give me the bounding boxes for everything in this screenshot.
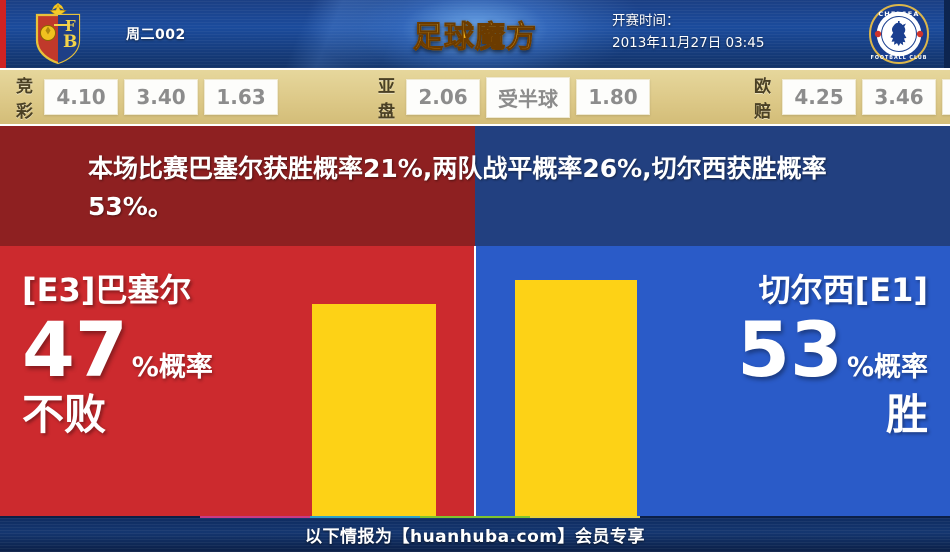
- footer-notice: 以下情报为【huanhuba.com】会员专享: [305, 522, 645, 547]
- odds-group-yapan: 亚盘 2.06 受半球 1.80: [378, 72, 650, 122]
- home-probability-bar: [312, 304, 436, 516]
- svg-text:FOOTBALL CLUB: FOOTBALL CLUB: [871, 55, 928, 61]
- home-percent-row: 47 %概率: [22, 312, 292, 388]
- home-percent-suffix: %概率: [132, 345, 213, 384]
- odds-bar: 竞彩 4.10 3.40 1.63 亚盘 2.06 受半球 1.80 欧赔 4.…: [0, 68, 950, 126]
- odds-cell-yapan-1[interactable]: 2.06: [406, 79, 480, 115]
- odds-cell-oupei-1[interactable]: 4.25: [782, 79, 856, 115]
- away-team-name: 切尔西[E1]: [658, 274, 928, 308]
- svg-text:B: B: [63, 32, 77, 52]
- chelsea-crest-icon: CHELSEA FOOTBALL CLUB: [868, 3, 930, 65]
- odds-label-oupei: 欧赔: [754, 72, 772, 122]
- home-team-info: [E3]巴塞尔 47 %概率 不败: [22, 274, 292, 436]
- away-outcome-label: 胜: [658, 394, 928, 436]
- away-percent-suffix: %概率: [847, 345, 928, 384]
- svg-text:CHELSEA: CHELSEA: [878, 10, 919, 18]
- odds-cell-yapan-2[interactable]: 1.80: [576, 79, 650, 115]
- probability-banner: 本场比赛巴塞尔获胜概率21%,两队战平概率26%,切尔西获胜概率53%。: [0, 126, 950, 246]
- header-right-edge: [944, 0, 950, 68]
- kickoff-label: 开赛时间：: [612, 10, 842, 32]
- odds-cell-jingcai-1[interactable]: 4.10: [44, 79, 118, 115]
- away-percent-value: 53: [737, 312, 843, 388]
- kickoff-info: 开赛时间： 2013年11月27日 03:45: [612, 10, 842, 55]
- match-prediction-page: F B 周二002 足球魔方 开赛时间： 2013年11月27日 03:45 C…: [0, 0, 950, 552]
- odds-group-jingcai: 竞彩 4.10 3.40 1.63: [16, 72, 278, 122]
- page-header: F B 周二002 足球魔方 开赛时间： 2013年11月27日 03:45 C…: [0, 0, 950, 68]
- probability-summary-text: 本场比赛巴塞尔获胜概率21%,两队战平概率26%,切尔西获胜概率53%。: [88, 150, 888, 225]
- odds-cell-oupei-2[interactable]: 3.46: [862, 79, 936, 115]
- page-footer: 以下情报为【huanhuba.com】会员专享: [0, 516, 950, 552]
- odds-cell-jingcai-2[interactable]: 3.40: [124, 79, 198, 115]
- odds-cell-oupei-3[interactable]: 1.84: [942, 79, 950, 115]
- match-number: 周二002: [126, 0, 186, 68]
- away-percent-row: 53 %概率: [658, 312, 928, 388]
- home-team-name: [E3]巴塞尔: [22, 274, 292, 308]
- odds-cell-jingcai-3[interactable]: 1.63: [204, 79, 278, 115]
- odds-label-jingcai: 竞彩: [16, 72, 34, 122]
- home-percent-value: 47: [22, 312, 128, 388]
- basel-crest-icon: F B: [24, 3, 92, 65]
- odds-group-oupei: 欧赔 4.25 3.46 1.84: [754, 72, 950, 122]
- away-team-panel: 切尔西[E1] 53 %概率 胜: [475, 246, 950, 516]
- header-left-edge: [0, 0, 6, 68]
- odds-cell-yapan-handicap[interactable]: 受半球: [486, 77, 570, 118]
- odds-label-yapan: 亚盘: [378, 72, 396, 122]
- away-probability-bar: [515, 280, 637, 516]
- away-team-info: 切尔西[E1] 53 %概率 胜: [658, 274, 928, 436]
- kickoff-time: 2013年11月27日 03:45: [612, 32, 842, 54]
- panel-divider: [474, 246, 476, 516]
- brand-logo-text: 足球魔方: [413, 12, 537, 56]
- brand-logo: 足球魔方: [400, 6, 550, 62]
- home-outcome-label: 不败: [22, 394, 292, 436]
- footer-accent-stripe: [0, 516, 950, 518]
- home-team-panel: [E3]巴塞尔 47 %概率 不败: [0, 246, 475, 516]
